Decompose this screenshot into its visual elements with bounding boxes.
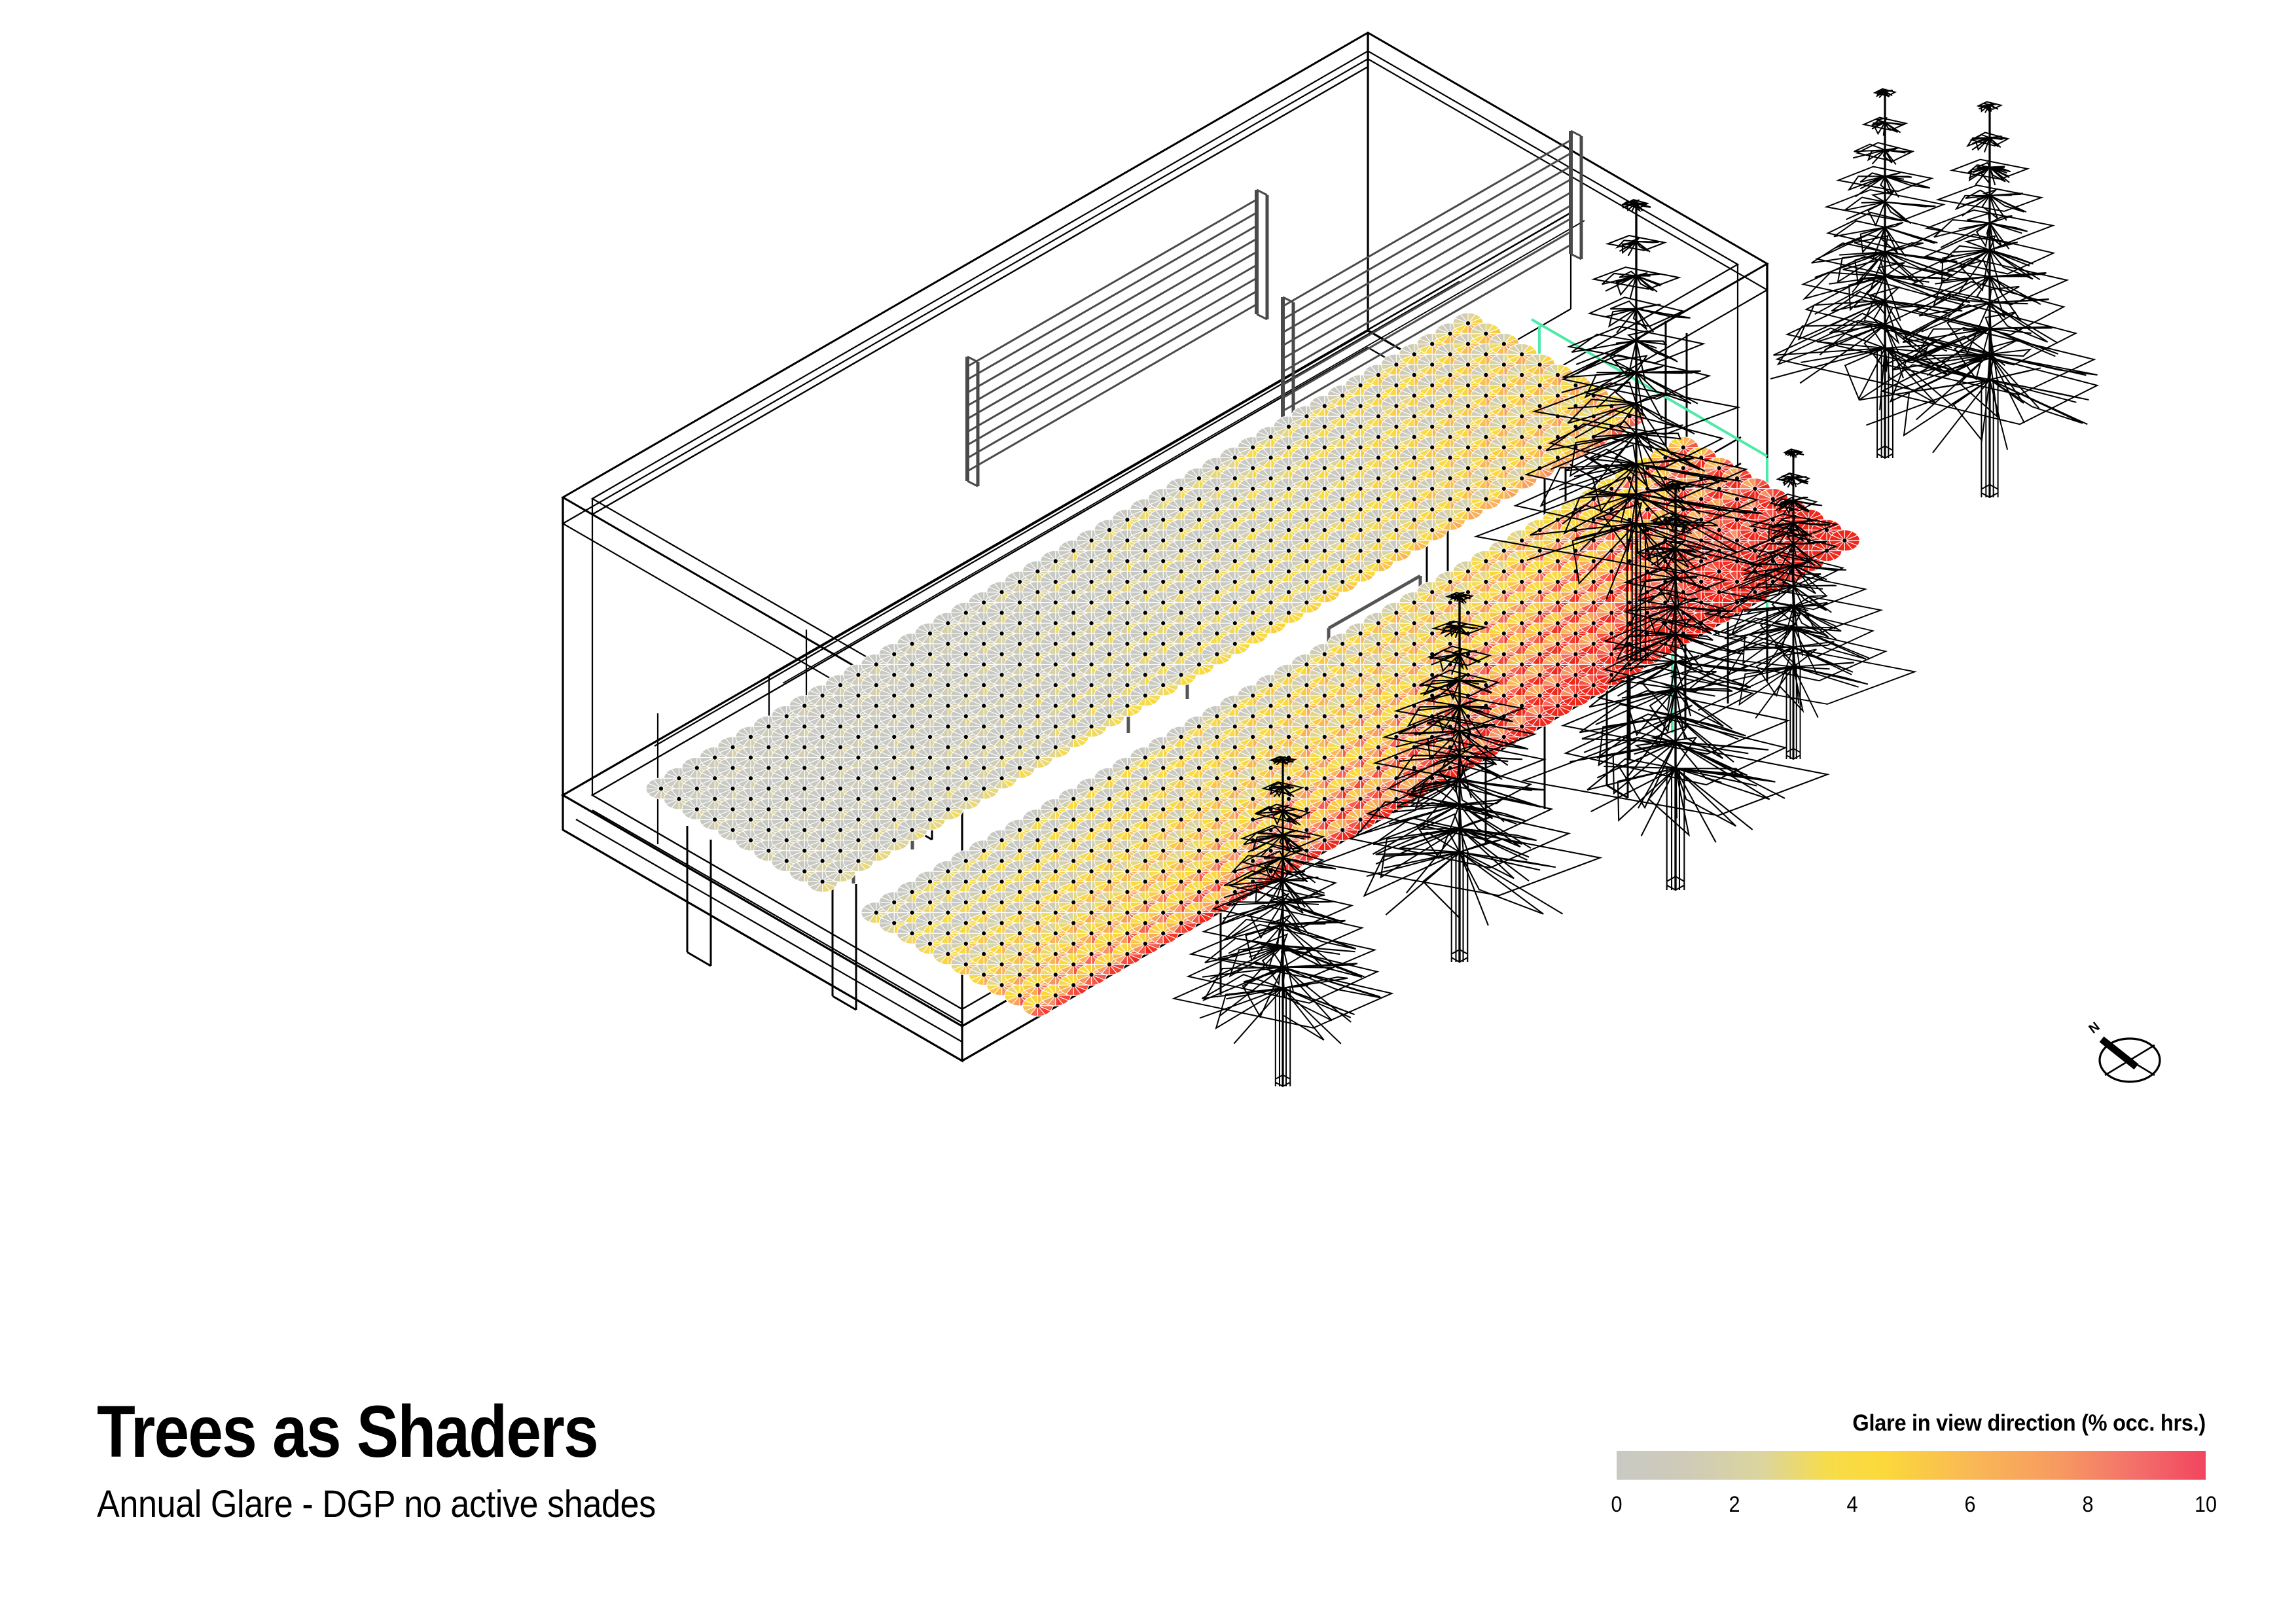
- rosette-center-node: [1412, 394, 1416, 398]
- rosette-center-node: [964, 735, 968, 739]
- rosette-center-node: [1161, 642, 1165, 646]
- rosette-center-node: [1466, 363, 1470, 366]
- rosette-center-node: [910, 642, 914, 646]
- rosette-center-node: [821, 817, 825, 821]
- rosette-center-node: [1000, 714, 1004, 718]
- rosette-center-node: [982, 642, 986, 646]
- rosette-center-node: [802, 745, 806, 749]
- rosette-center-node: [1018, 601, 1022, 605]
- rosette-center-node: [1484, 332, 1488, 336]
- rosette-center-node: [1035, 694, 1039, 698]
- rosette-center-node: [1107, 549, 1111, 553]
- rosette-center-node: [1359, 446, 1363, 450]
- rosette-center-node: [1376, 414, 1380, 418]
- rosette-center-node: [1035, 611, 1039, 615]
- rosette-center-node: [1197, 539, 1201, 543]
- rosette-center-node: [874, 662, 878, 666]
- rosette-center-node: [1125, 580, 1129, 584]
- rosette-center-node: [1269, 539, 1273, 543]
- rosette-center-node: [874, 787, 878, 791]
- rosette-center-node: [1502, 404, 1506, 408]
- rosette-center-node: [838, 704, 842, 708]
- rosette-center-node: [928, 632, 932, 635]
- rosette-center-node: [1520, 414, 1524, 418]
- rosette-center-node: [1018, 704, 1022, 708]
- rosette-center-node: [802, 828, 806, 832]
- rosette-center-node: [838, 745, 842, 749]
- rosette-center-node: [1538, 363, 1542, 366]
- rosette-center-node: [1071, 632, 1075, 635]
- rosette-center-node: [982, 662, 986, 666]
- rosette-center-node: [1520, 352, 1524, 356]
- rosette-center-node: [1340, 394, 1344, 398]
- rosette-center-node: [749, 797, 753, 801]
- rosette-center-node: [1394, 466, 1398, 470]
- rosette-center-node: [1197, 559, 1201, 563]
- rosette-center-node: [1054, 704, 1058, 708]
- rosette-center-node: [1269, 580, 1273, 584]
- rosette-center-node: [1215, 590, 1219, 594]
- rosette-center-node: [1179, 528, 1183, 532]
- rosette-center-node: [1161, 559, 1165, 563]
- rosette-center-node: [874, 766, 878, 770]
- rosette-center-node: [1233, 580, 1237, 584]
- rosette-center-node: [1502, 425, 1506, 429]
- rosette-center-node: [1448, 414, 1452, 418]
- rosette-center-node: [838, 766, 842, 770]
- rosette-center-node: [1107, 528, 1111, 532]
- rosette-center-node: [1251, 590, 1255, 594]
- rosette-center-node: [1071, 694, 1075, 698]
- rosette-center-node: [1502, 363, 1506, 366]
- rosette-center-node: [1412, 373, 1416, 377]
- rosette-center-node: [749, 735, 753, 739]
- rosette-center-node: [1394, 404, 1398, 408]
- rosette-center-node: [1304, 497, 1308, 501]
- rosette-center-node: [1448, 332, 1452, 336]
- rosette-center-node: [731, 787, 735, 791]
- rosette-center-node: [785, 838, 789, 842]
- rosette-center-node: [1359, 383, 1363, 387]
- rosette-center-node: [1484, 352, 1488, 356]
- rosette-center-node: [695, 787, 699, 791]
- rosette-center-node: [1233, 518, 1237, 522]
- rosette-center-node: [677, 797, 681, 801]
- rosette-center-node: [1071, 549, 1075, 553]
- rosette-center-node: [838, 683, 842, 687]
- rosette-center-node: [892, 652, 896, 656]
- rosette-center-node: [1340, 539, 1344, 543]
- rosette-center-node: [1287, 569, 1291, 573]
- rosette-center-node: [677, 776, 681, 780]
- rosette-center-node: [1466, 404, 1470, 408]
- rosette-center-node: [1035, 714, 1039, 718]
- rosette-center-node: [1359, 466, 1363, 470]
- rosette-center-node: [1215, 487, 1219, 491]
- rosette-center-node: [785, 859, 789, 863]
- rosette-center-node: [1125, 662, 1129, 666]
- rosette-center-node: [1054, 662, 1058, 666]
- rosette-center-node: [821, 776, 825, 780]
- rosette-center-node: [910, 704, 914, 708]
- rosette-center-node: [982, 724, 986, 728]
- rosette-center-node: [1376, 394, 1380, 398]
- rosette-center-node: [1233, 539, 1237, 543]
- rosette-center-node: [1484, 435, 1488, 439]
- rosette-center-node: [802, 724, 806, 728]
- rosette-center-node: [964, 632, 968, 635]
- rosette-center-node: [1125, 539, 1129, 543]
- rosette-center-node: [802, 766, 806, 770]
- rosette-center-node: [1323, 549, 1327, 553]
- rosette-center-node: [856, 694, 860, 698]
- rosette-center-node: [928, 735, 932, 739]
- rosette-center-node: [964, 611, 968, 615]
- rosette-center-node: [1430, 425, 1434, 429]
- rosette-center-node: [1071, 611, 1075, 615]
- rosette-center-node: [1323, 446, 1327, 450]
- rosette-center-node: [1430, 383, 1434, 387]
- rosette-center-node: [1359, 507, 1363, 511]
- rosette-center-node: [1466, 342, 1470, 346]
- rosette-center-node: [1018, 724, 1022, 728]
- rosette-center-node: [838, 828, 842, 832]
- rosette-center-node: [1448, 373, 1452, 377]
- rosette-center-node: [1520, 394, 1524, 398]
- rosette-center-node: [1430, 363, 1434, 366]
- rosette-center-node: [1179, 632, 1183, 635]
- rosette-center-node: [1054, 559, 1058, 563]
- rosette-center-node: [982, 704, 986, 708]
- rosette-center-node: [964, 756, 968, 760]
- rosette-center-node: [910, 724, 914, 728]
- rosette-center-node: [1323, 404, 1327, 408]
- rosette-center-node: [838, 787, 842, 791]
- rosette-center-node: [910, 683, 914, 687]
- rosette-center-node: [964, 673, 968, 677]
- rosette-center-node: [1197, 580, 1201, 584]
- analysis-sheet: Trees as Shaders Annual Glare - DGP no a…: [0, 0, 2296, 1623]
- rosette-center-node: [856, 817, 860, 821]
- rosette-center-node: [1394, 425, 1398, 429]
- rosette-center-node: [1340, 414, 1344, 418]
- rosette-center-node: [910, 787, 914, 791]
- rosette-center-node: [1143, 507, 1147, 511]
- rosette-center-node: [1251, 466, 1255, 470]
- rosette-center-node: [1090, 642, 1094, 646]
- rosette-center-node: [1215, 549, 1219, 553]
- rosette-center-node: [1035, 569, 1039, 573]
- rosette-center-node: [1376, 497, 1380, 501]
- rosette-center-node: [695, 808, 699, 811]
- rosette-center-node: [1000, 611, 1004, 615]
- rosette-center-node: [766, 724, 770, 728]
- rosette-center-node: [802, 704, 806, 708]
- rosette-center-node: [874, 724, 878, 728]
- rosette-center-node: [1556, 373, 1560, 377]
- rosette-center-node: [1323, 507, 1327, 511]
- rosette-center-node: [1215, 507, 1219, 511]
- rosette-center-node: [1466, 446, 1470, 450]
- rosette-center-node: [1340, 435, 1344, 439]
- rosette-center-node: [1071, 590, 1075, 594]
- rosette-center-node: [821, 735, 825, 739]
- rosette-center-node: [1161, 539, 1165, 543]
- rosette-center-node: [856, 714, 860, 718]
- rosette-center-node: [821, 756, 825, 760]
- rosette-center-node: [1287, 528, 1291, 532]
- rosette-center-node: [1251, 446, 1255, 450]
- rosette-center-node: [1430, 342, 1434, 346]
- rosette-center-node: [1412, 352, 1416, 356]
- rosette-center-node: [1287, 549, 1291, 553]
- rosette-center-node: [713, 797, 717, 801]
- rosette-center-node: [1359, 404, 1363, 408]
- rosette-center-node: [731, 766, 735, 770]
- rosette-center-node: [785, 714, 789, 718]
- rosette-center-node: [802, 849, 806, 853]
- rosette-center-node: [731, 745, 735, 749]
- rosette-center-node: [964, 694, 968, 698]
- rosette-center-node: [946, 662, 950, 666]
- rosette-center-node: [1000, 590, 1004, 594]
- rosette-center-node: [874, 745, 878, 749]
- model-svg: [0, 0, 2296, 1623]
- rosette-center-node: [1448, 394, 1452, 398]
- rosette-center-node: [1107, 652, 1111, 656]
- rosette-center-node: [766, 808, 770, 811]
- rosette-center-node: [821, 797, 825, 801]
- rosette-center-node: [785, 756, 789, 760]
- rosette-center-node: [766, 849, 770, 853]
- rosette-center-node: [1197, 476, 1201, 480]
- rosette-center-node: [1143, 528, 1147, 532]
- rosette-center-node: [964, 652, 968, 656]
- rosette-center-node: [1304, 559, 1308, 563]
- rosette-center-node: [1035, 652, 1039, 656]
- rosette-center-node: [1000, 632, 1004, 635]
- rosette-center-node: [1323, 425, 1327, 429]
- rosette-center-node: [856, 776, 860, 780]
- rosette-center-node: [1197, 497, 1201, 501]
- rosette-center-node: [821, 838, 825, 842]
- rosette-center-node: [1197, 621, 1201, 625]
- rosette-center-node: [1394, 383, 1398, 387]
- rosette-center-node: [1323, 466, 1327, 470]
- rosette-center-node: [1035, 632, 1039, 635]
- rosette-center-node: [1233, 497, 1237, 501]
- rosette-center-node: [1340, 518, 1344, 522]
- rosette-center-node: [1054, 621, 1058, 625]
- rosette-center-node: [1323, 528, 1327, 532]
- rosette-center-node: [1125, 518, 1129, 522]
- rosette-center-node: [749, 817, 753, 821]
- rosette-center-node: [964, 714, 968, 718]
- rosette-center-node: [1090, 621, 1094, 625]
- rosette-center-node: [1054, 642, 1058, 646]
- rosette-center-node: [695, 766, 699, 770]
- rosette-center-node: [1287, 487, 1291, 491]
- rosette-center-node: [928, 652, 932, 656]
- rosette-center-node: [1359, 528, 1363, 532]
- rosette-center-node: [1107, 673, 1111, 677]
- rosette-center-node: [1573, 383, 1577, 387]
- rosette-center-node: [1090, 580, 1094, 584]
- rosette-center-node: [1125, 642, 1129, 646]
- rosette-center-node: [1448, 352, 1452, 356]
- rosette-center-node: [946, 683, 950, 687]
- rosette-center-node: [821, 714, 825, 718]
- rosette-center-node: [713, 756, 717, 760]
- rosette-center-node: [766, 766, 770, 770]
- rosette-center-node: [1340, 455, 1344, 459]
- rosette-center-node: [785, 735, 789, 739]
- rosette-center-node: [1179, 590, 1183, 594]
- rosette-center-node: [749, 756, 753, 760]
- rosette-center-node: [1090, 683, 1094, 687]
- rosette-center-node: [1090, 559, 1094, 563]
- rosette-center-node: [1233, 476, 1237, 480]
- rosette-center-node: [856, 735, 860, 739]
- rosette-center-node: [1179, 507, 1183, 511]
- rosette-center-node: [1054, 601, 1058, 605]
- rosette-center-node: [1251, 528, 1255, 532]
- rosette-center-node: [1000, 694, 1004, 698]
- rosette-center-node: [1304, 518, 1308, 522]
- rosette-center-node: [892, 694, 896, 698]
- rosette-center-node: [1018, 642, 1022, 646]
- rosette-center-node: [1018, 580, 1022, 584]
- rosette-center-node: [946, 704, 950, 708]
- rosette-center-node: [1412, 476, 1416, 480]
- rosette-center-node: [1359, 487, 1363, 491]
- rosette-center-node: [1269, 518, 1273, 522]
- rosette-center-node: [1448, 435, 1452, 439]
- rosette-center-node: [1538, 404, 1542, 408]
- rosette-center-node: [1143, 632, 1147, 635]
- rosette-center-node: [1304, 435, 1308, 439]
- rosette-center-node: [928, 776, 932, 780]
- rosette-center-node: [802, 787, 806, 791]
- rosette-center-node: [1233, 559, 1237, 563]
- rosette-center-node: [892, 735, 896, 739]
- rosette-center-node: [1233, 601, 1237, 605]
- rosette-center-node: [856, 673, 860, 677]
- rosette-center-node: [1287, 446, 1291, 450]
- rosette-center-node: [1556, 394, 1560, 398]
- rosette-center-node: [1269, 497, 1273, 501]
- rosette-center-node: [1412, 455, 1416, 459]
- rosette-center-node: [1035, 673, 1039, 677]
- rosette-center-node: [1197, 518, 1201, 522]
- rosette-center-node: [928, 756, 932, 760]
- rosette-center-node: [1000, 673, 1004, 677]
- rosette-center-node: [1018, 621, 1022, 625]
- rosette-center-node: [1394, 446, 1398, 450]
- rosette-center-node: [1107, 611, 1111, 615]
- rosette-center-node: [892, 714, 896, 718]
- rosette-center-node: [731, 828, 735, 832]
- rosette-center-node: [892, 756, 896, 760]
- rosette-center-node: [1412, 414, 1416, 418]
- rosette-center-node: [1304, 539, 1308, 543]
- rosette-center-node: [713, 817, 717, 821]
- rosette-center-node: [892, 673, 896, 677]
- rosette-center-node: [1323, 487, 1327, 491]
- rosette-center-node: [1376, 373, 1380, 377]
- rosette-center-node: [1143, 569, 1147, 573]
- rosette-center-node: [766, 828, 770, 832]
- rosette-center-node: [749, 776, 753, 780]
- rosette-center-node: [874, 683, 878, 687]
- rosette-center-node: [1090, 539, 1094, 543]
- rosette-center-node: [1125, 559, 1129, 563]
- rosette-center-node: [892, 797, 896, 801]
- rosette-center-node: [1071, 569, 1075, 573]
- rosette-center-node: [856, 756, 860, 760]
- rosette-center-node: [1269, 435, 1273, 439]
- rosette-center-node: [1215, 528, 1219, 532]
- rosette-center-node: [1143, 549, 1147, 553]
- rosette-center-node: [1000, 735, 1004, 739]
- rosette-center-node: [1090, 601, 1094, 605]
- rosette-center-node: [1376, 476, 1380, 480]
- rosette-center-node: [1071, 673, 1075, 677]
- rosette-center-node: [1502, 383, 1506, 387]
- rosette-center-node: [785, 776, 789, 780]
- rosette-center-node: [1502, 342, 1506, 346]
- rosette-center-node: [1520, 373, 1524, 377]
- rosette-center-node: [1269, 559, 1273, 563]
- rosette-center-node: [1125, 601, 1129, 605]
- rosette-center-node: [731, 808, 735, 811]
- rosette-center-node: [1054, 683, 1058, 687]
- rosette-center-node: [713, 776, 717, 780]
- rosette-center-node: [1251, 549, 1255, 553]
- rosette-center-node: [1269, 476, 1273, 480]
- rosette-center-node: [982, 621, 986, 625]
- rosette-center-node: [1484, 394, 1488, 398]
- rosette-center-node: [1233, 455, 1237, 459]
- rosette-center-node: [982, 745, 986, 749]
- rosette-center-node: [1018, 683, 1022, 687]
- rosette-center-node: [946, 642, 950, 646]
- rosette-center-node: [1484, 373, 1488, 377]
- rosette-center-node: [1466, 383, 1470, 387]
- rosette-center-node: [1251, 507, 1255, 511]
- rosette-center-node: [1376, 435, 1380, 439]
- rosette-center-node: [838, 808, 842, 811]
- rosette-center-node: [1430, 466, 1434, 470]
- rosette-center-node: [1035, 590, 1039, 594]
- rosette-center-node: [1215, 466, 1219, 470]
- rosette-center-node: [1179, 611, 1183, 615]
- rosette-center-node: [946, 745, 950, 749]
- rosette-center-node: [1394, 487, 1398, 491]
- rosette-center-node: [874, 704, 878, 708]
- rosette-center-node: [1359, 425, 1363, 429]
- rosette-center-node: [1143, 611, 1147, 615]
- rosette-center-node: [892, 776, 896, 780]
- rosette-center-node: [982, 683, 986, 687]
- rosette-center-node: [1054, 580, 1058, 584]
- rosette-center-node: [1251, 569, 1255, 573]
- rosette-center-node: [1143, 652, 1147, 656]
- rosette-center-node: [856, 797, 860, 801]
- rosette-center-node: [766, 745, 770, 749]
- rosette-center-node: [1179, 569, 1183, 573]
- rosette-center-node: [1161, 497, 1165, 501]
